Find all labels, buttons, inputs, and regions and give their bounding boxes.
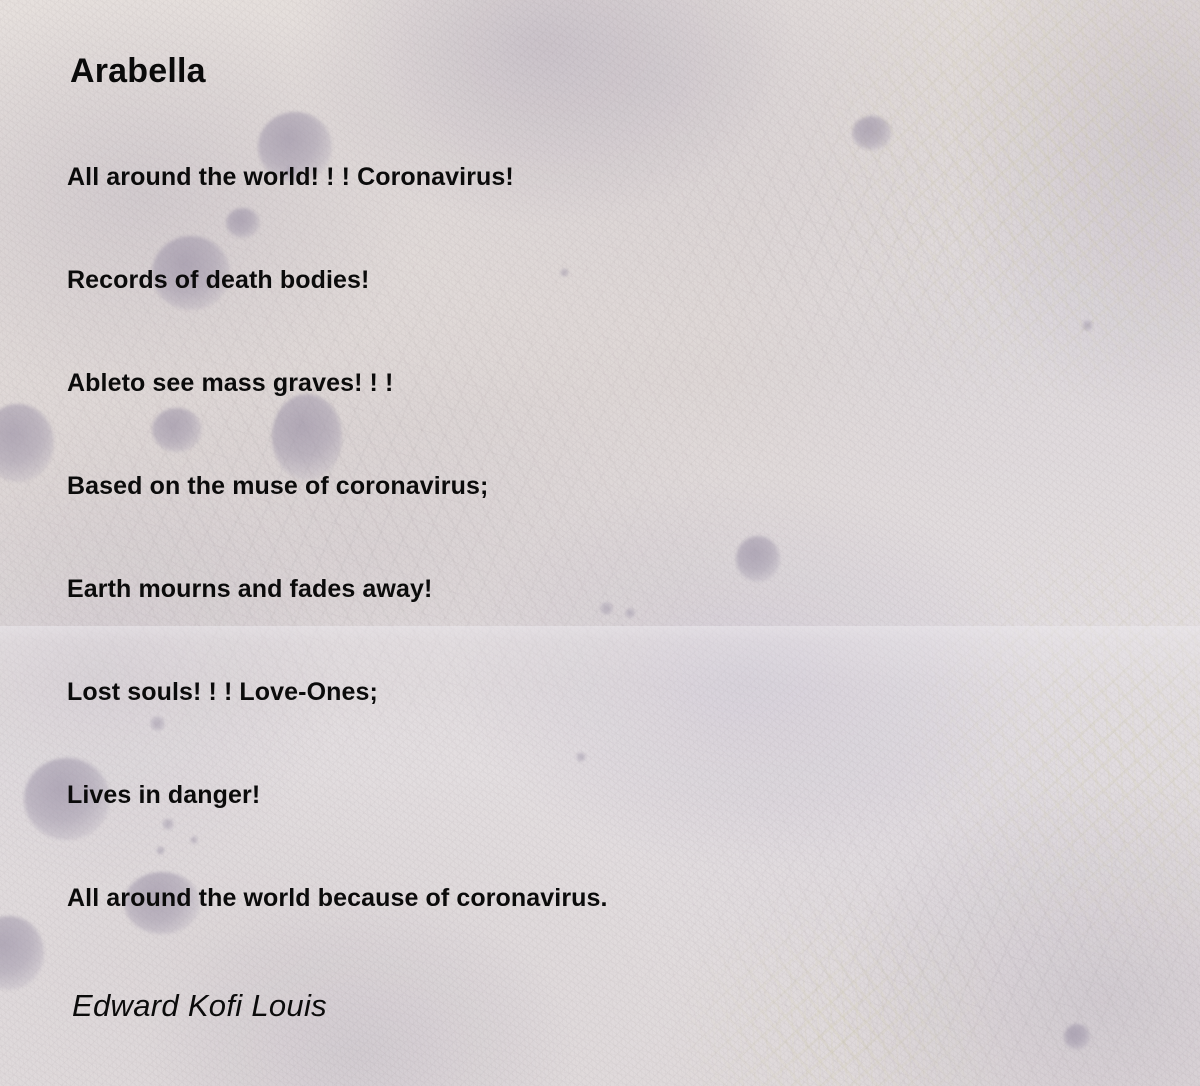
poem-title: Arabella — [70, 52, 206, 91]
poem-image-card: Arabella All around the world! ! ! Coron… — [0, 0, 1200, 1086]
poem-line: Ableto see mass graves! ! ! — [67, 366, 1127, 400]
poem-line: Earth mourns and fades away! — [67, 572, 1127, 606]
poem-line: Based on the muse of coronavirus; — [67, 469, 1127, 503]
poem-line: Records of death bodies! — [67, 263, 1127, 297]
poem-body: All around the world! ! ! Coronavirus! R… — [67, 160, 1127, 984]
poem-content: Arabella All around the world! ! ! Coron… — [0, 0, 1200, 1086]
poem-line: Lost souls! ! ! Love-Ones; — [67, 675, 1127, 709]
poem-line: All around the world because of coronavi… — [67, 881, 1127, 915]
poem-line: Lives in danger! — [67, 778, 1127, 812]
poem-line: All around the world! ! ! Coronavirus! — [67, 160, 1127, 194]
poem-author-signature: Edward Kofi Louis — [72, 988, 327, 1024]
